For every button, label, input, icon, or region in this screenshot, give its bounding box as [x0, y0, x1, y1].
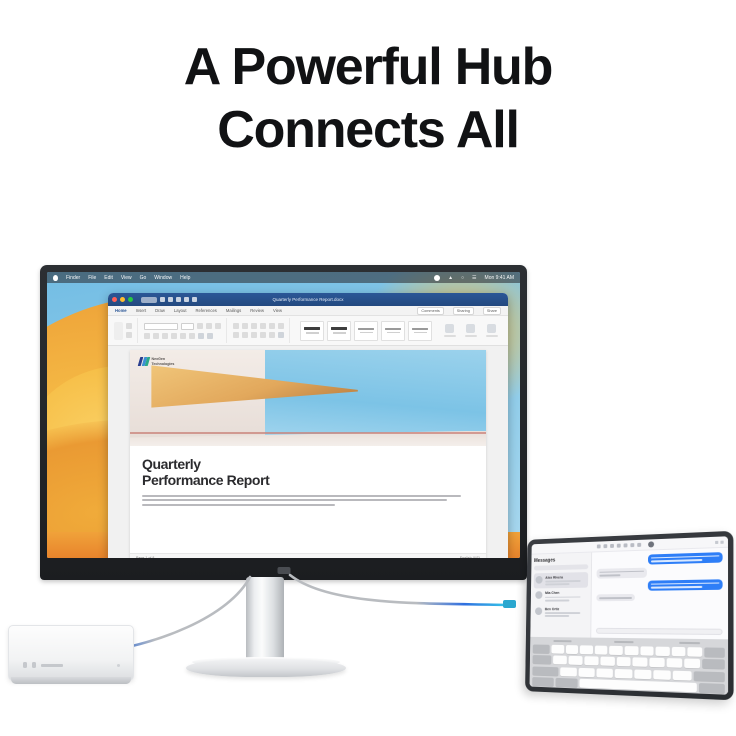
suggestion-1[interactable] — [553, 640, 571, 642]
message-preview — [545, 580, 581, 582]
messages-app[interactable]: Messages Alex Rivera — [530, 548, 728, 640]
key-y[interactable] — [625, 646, 638, 655]
message-compose-input[interactable] — [596, 628, 723, 635]
return-key[interactable] — [702, 659, 724, 669]
backspace-key[interactable] — [704, 647, 725, 657]
globe-key[interactable] — [555, 678, 577, 688]
tab-key[interactable] — [533, 644, 550, 653]
attach-icon[interactable] — [616, 544, 620, 548]
logo-text: NexGen Technologies — [152, 357, 175, 366]
key-m[interactable] — [673, 670, 691, 680]
message-preview — [545, 612, 581, 614]
key-e[interactable] — [580, 645, 593, 654]
computer-chassis — [8, 625, 134, 681]
conversation-meta: Alex Rivera — [545, 575, 586, 586]
page-title: A Powerful Hub Connects All — [0, 36, 736, 163]
battery-icon — [720, 540, 723, 543]
contact-name: Ben Ortiz — [545, 607, 586, 611]
avatar — [535, 607, 542, 615]
space-key[interactable] — [579, 679, 697, 693]
headline-line-2: Connects All — [0, 99, 736, 162]
key-c[interactable] — [597, 668, 614, 678]
list-item[interactable]: Alex Rivera — [534, 572, 588, 588]
tablet-screen[interactable]: Messages Alex Rivera — [530, 536, 729, 694]
key-k[interactable] — [667, 658, 682, 668]
message-line — [651, 555, 719, 559]
suggestion-3[interactable] — [679, 642, 700, 644]
key-u[interactable] — [640, 646, 654, 655]
key-h[interactable] — [633, 657, 648, 667]
tablet-device: Messages Alex Rivera — [518, 535, 730, 695]
compose-icon[interactable] — [610, 544, 614, 548]
home-indicator — [598, 692, 649, 694]
shift-key-right[interactable] — [693, 671, 725, 682]
onscreen-keyboard[interactable] — [530, 637, 729, 695]
message-preview — [545, 615, 569, 617]
suggestion-2[interactable] — [614, 641, 634, 643]
caps-lock-key[interactable] — [533, 655, 552, 664]
conversation-list[interactable]: Messages Alex Rivera — [530, 553, 591, 638]
logo-text-line-2: Technologies — [152, 362, 175, 366]
shift-key-left[interactable] — [532, 666, 559, 676]
toolbar-right-icons[interactable] — [715, 540, 724, 543]
tablet-frame: Messages Alex Rivera — [525, 531, 734, 701]
key-j[interactable] — [650, 658, 665, 668]
front-ports[interactable] — [23, 662, 63, 668]
computer-base — [11, 677, 131, 684]
message-line — [599, 570, 644, 573]
key-a[interactable] — [553, 655, 567, 664]
message-line — [651, 582, 720, 585]
search-input[interactable] — [534, 564, 588, 570]
received-message-bubble[interactable] — [596, 594, 635, 601]
key-q[interactable] — [551, 644, 563, 653]
key-t[interactable] — [610, 645, 623, 654]
contact-name: Alex Rivera — [545, 575, 586, 580]
sent-message-bubble[interactable] — [648, 579, 723, 591]
key-n[interactable] — [653, 670, 671, 680]
key-g[interactable] — [616, 657, 631, 666]
more-icon[interactable] — [637, 543, 641, 547]
key-o[interactable] — [672, 646, 686, 656]
logo-text-line-1: NexGen — [152, 357, 166, 361]
message-preview — [545, 583, 569, 585]
key-x[interactable] — [578, 667, 594, 676]
usb-c-port-1-icon[interactable] — [23, 662, 27, 668]
desktop-mini-computer — [8, 625, 134, 681]
contact-name: Mia Chen — [545, 591, 586, 595]
sent-message-bubble[interactable] — [648, 552, 723, 565]
key-i[interactable] — [656, 646, 670, 656]
avatar — [536, 576, 543, 584]
key-w[interactable] — [566, 645, 579, 654]
cable-to-tablet — [290, 575, 508, 605]
company-logo: NexGen Technologies — [139, 357, 174, 366]
message-thread[interactable] — [591, 548, 728, 640]
key-f[interactable] — [600, 657, 614, 666]
message-line — [599, 574, 620, 576]
conversation-meta: Ben Ortiz — [545, 607, 586, 617]
key-l[interactable] — [684, 659, 700, 669]
message-line — [651, 559, 702, 562]
received-message-bubble[interactable] — [596, 568, 646, 579]
key-d[interactable] — [584, 656, 598, 665]
photo-icon[interactable] — [623, 543, 627, 547]
key-s[interactable] — [568, 656, 582, 665]
messages-title: Messages — [534, 557, 588, 564]
avatar — [535, 591, 542, 599]
logo-mark-icon — [139, 357, 149, 366]
key-z[interactable] — [561, 667, 577, 676]
key-r[interactable] — [595, 645, 608, 654]
sd-card-slot-icon[interactable] — [41, 664, 63, 667]
message-preview — [545, 599, 569, 601]
key-v[interactable] — [615, 668, 632, 678]
headline-line-1: A Powerful Hub — [184, 38, 552, 96]
power-led-icon — [117, 664, 120, 667]
list-item[interactable]: Mia Chen — [533, 588, 587, 604]
message-line — [599, 597, 632, 599]
message-preview — [545, 596, 581, 598]
wifi-icon — [715, 540, 718, 543]
avatar[interactable] — [648, 541, 654, 547]
conversation-meta: Mia Chen — [545, 591, 586, 602]
key-p[interactable] — [688, 647, 702, 657]
cable-connector-plug — [503, 600, 516, 608]
message-line — [651, 586, 702, 589]
product-scene: Finder File Edit View Go Window Help ▲ ○… — [0, 255, 736, 715]
forward-icon[interactable] — [603, 544, 607, 548]
dismiss-keyboard-key[interactable] — [699, 683, 725, 694]
numbers-key[interactable] — [532, 677, 553, 687]
emoji-icon[interactable] — [630, 543, 634, 547]
back-icon[interactable] — [596, 544, 600, 548]
key-b[interactable] — [634, 669, 651, 679]
list-item[interactable]: Ben Ortiz — [533, 604, 587, 619]
usb-c-port-2-icon[interactable] — [32, 662, 36, 668]
